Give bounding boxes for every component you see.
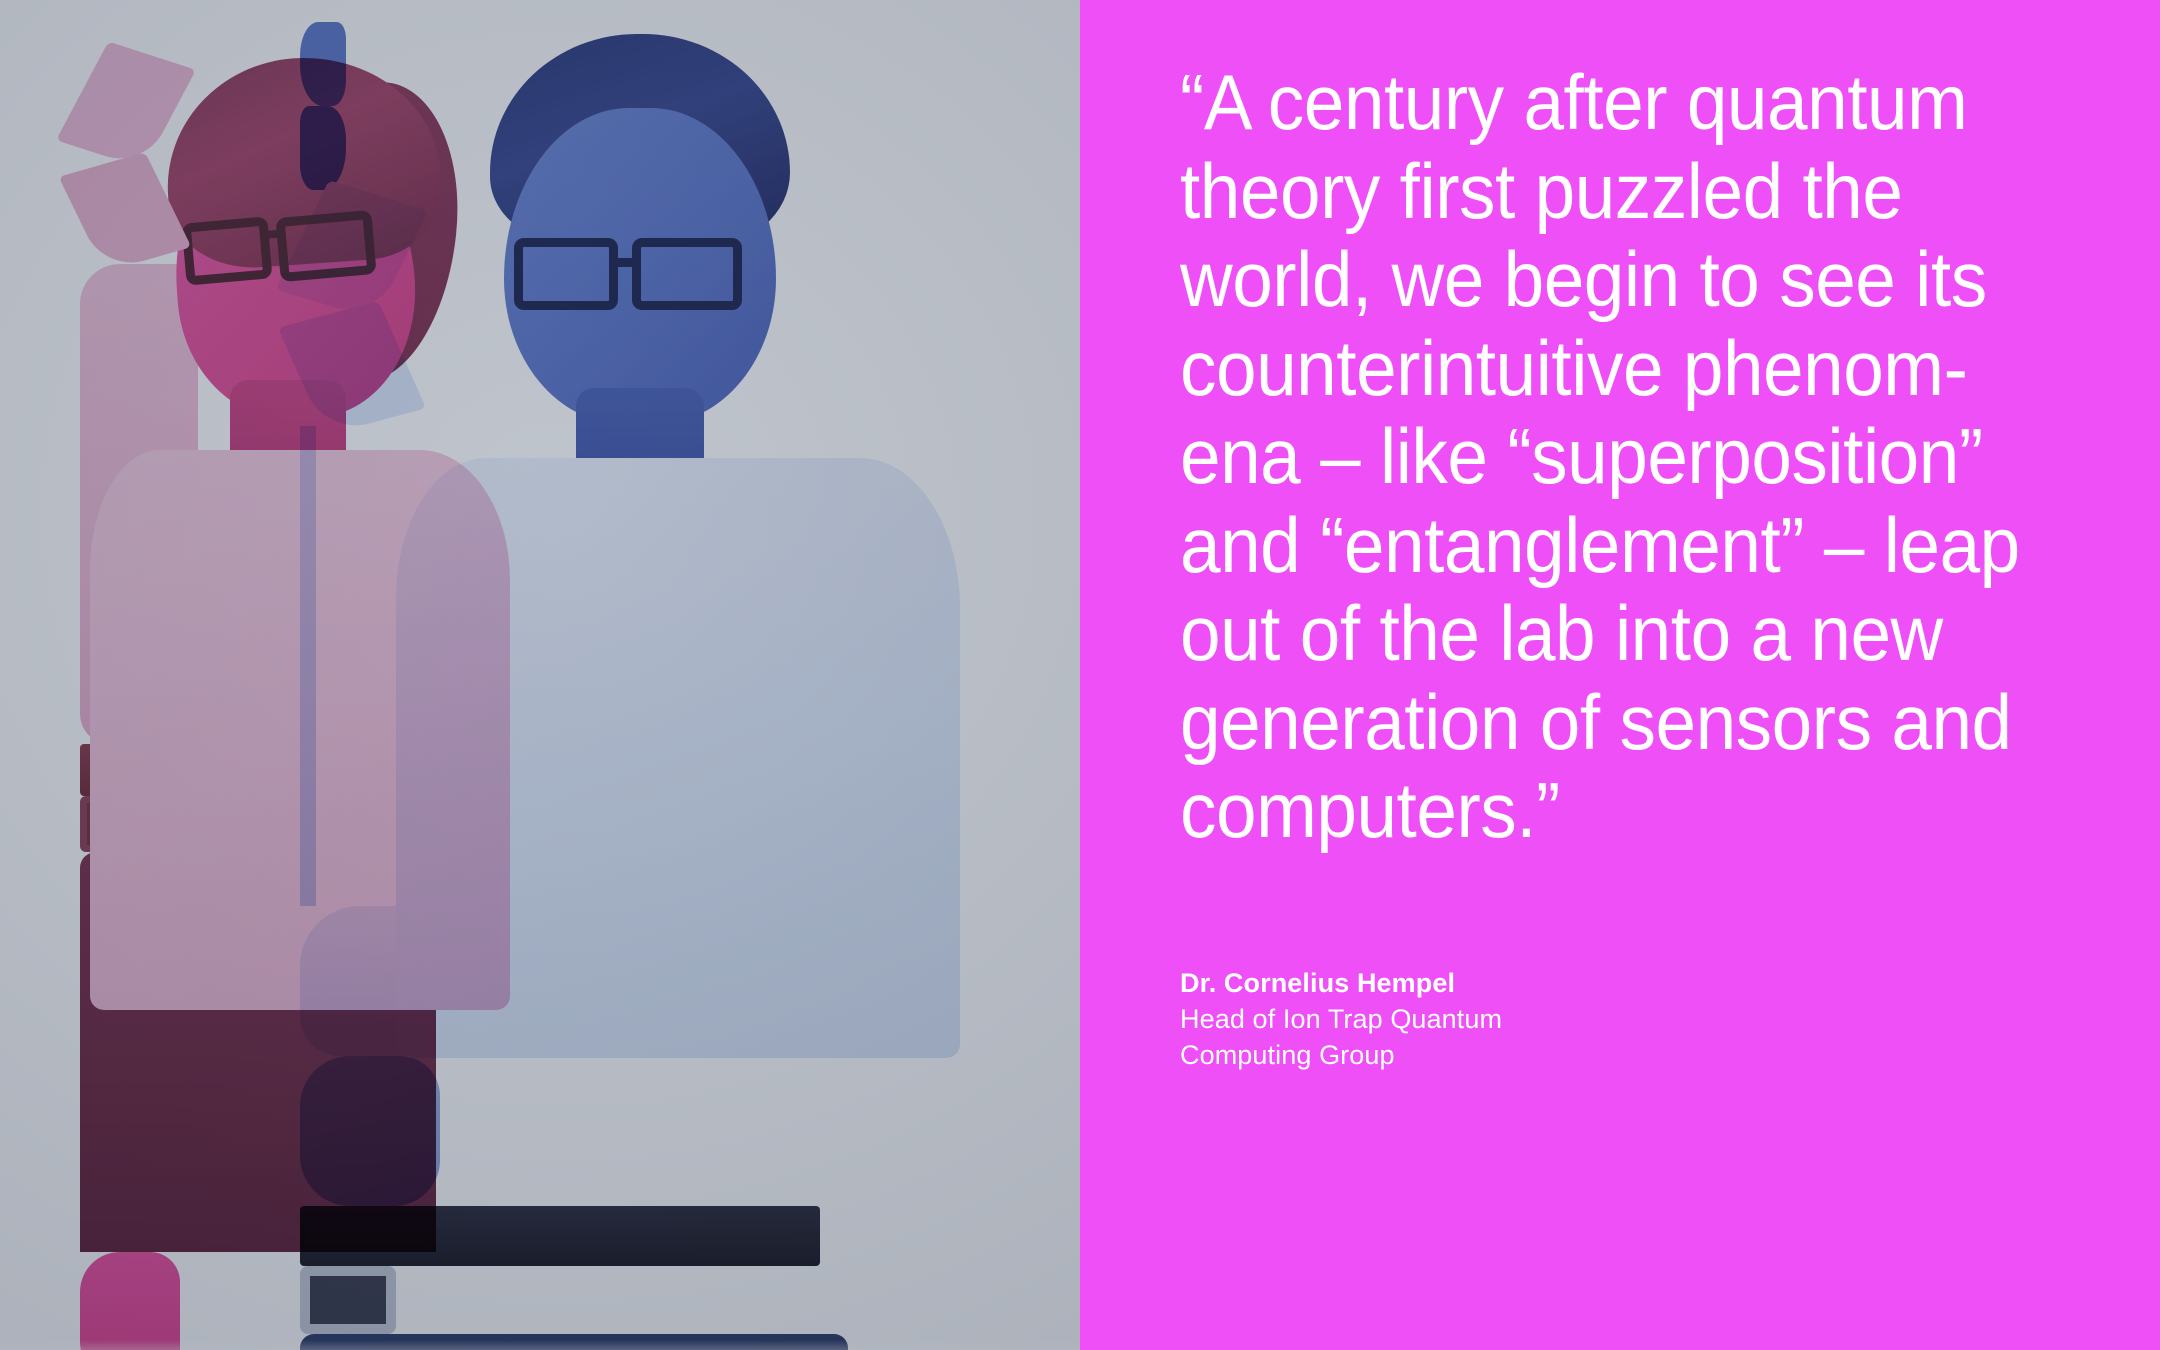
blue-jeans bbox=[300, 1334, 848, 1350]
quote-card: “A century after quantum theory first pu… bbox=[0, 0, 2160, 1350]
blue-collar-right bbox=[278, 301, 426, 435]
blue-shirt-placket bbox=[300, 426, 316, 906]
blue-hand bbox=[300, 1056, 440, 1206]
quote-panel: “A century after quantum theory first pu… bbox=[1080, 0, 2160, 1350]
pink-hand bbox=[80, 1252, 180, 1350]
blue-belt-buckle bbox=[300, 1266, 396, 1334]
portrait-exposure-blue bbox=[300, 22, 1000, 1350]
blue-belt bbox=[300, 1206, 820, 1266]
pink-glasses-bridge bbox=[268, 229, 285, 238]
attribution-name: Dr. Cornelius Hempel bbox=[1180, 965, 1502, 1001]
portrait-panel bbox=[0, 0, 1080, 1350]
blue-ear-left bbox=[300, 22, 346, 106]
attribution-block: Dr. Cornelius Hempel Head of Ion Trap Qu… bbox=[1180, 965, 1502, 1074]
pink-glasses-left-lens bbox=[181, 216, 272, 285]
blue-ear-right bbox=[300, 106, 346, 190]
blue-glasses-bridge bbox=[616, 258, 636, 267]
blue-glasses-right-lens bbox=[632, 238, 742, 310]
attribution-role: Head of Ion Trap Quantum Computing Group bbox=[1180, 1001, 1502, 1073]
pull-quote: “A century after quantum theory first pu… bbox=[1180, 58, 2031, 855]
blue-glasses-left-lens bbox=[514, 238, 618, 310]
blue-shirt bbox=[396, 458, 960, 1058]
